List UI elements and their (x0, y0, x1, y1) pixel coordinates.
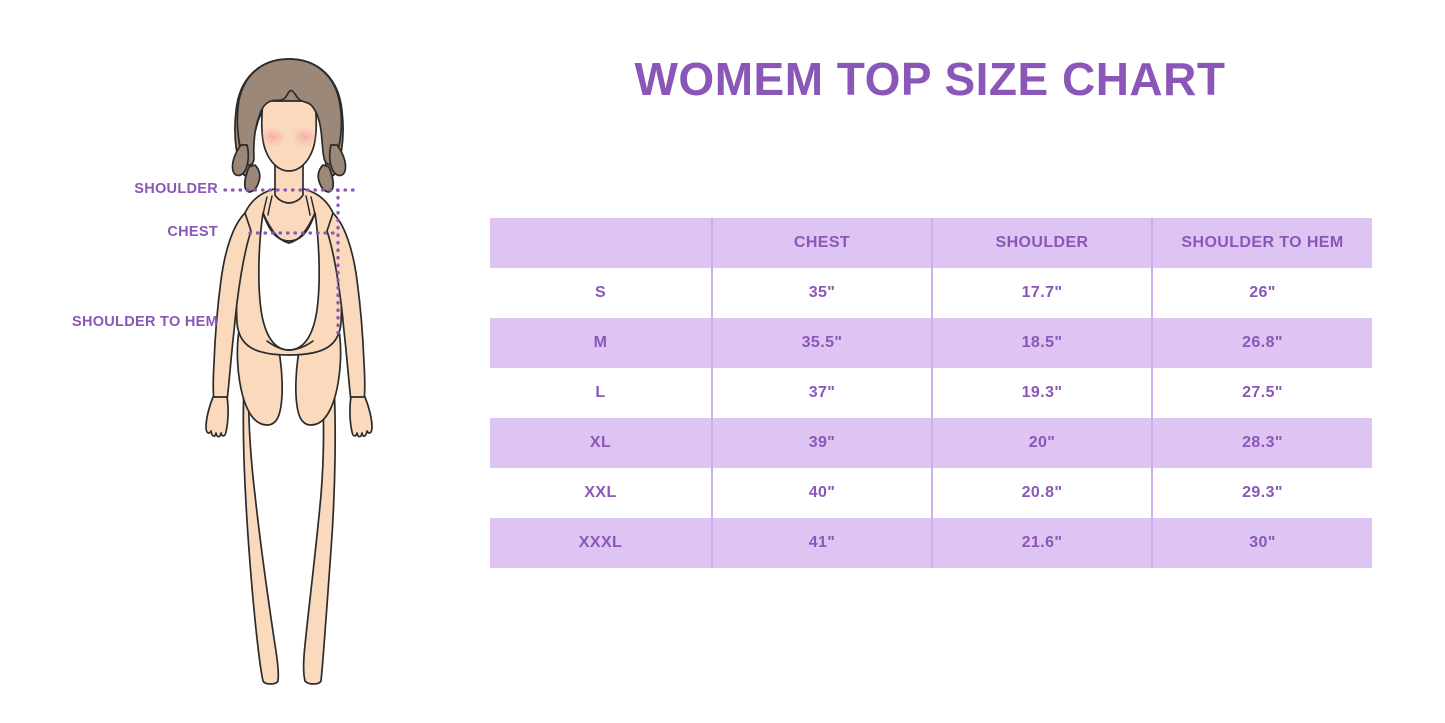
left-hand (206, 397, 228, 437)
cell-shoulder: 19.3" (932, 368, 1152, 418)
cell-chest: 35.5" (712, 318, 932, 368)
blush-right (292, 127, 318, 147)
size-chart-table: CHEST SHOULDER SHOULDER TO HEM S 35" 17.… (490, 218, 1372, 568)
cell-chest: 40" (712, 468, 932, 518)
column-header-shoulder: SHOULDER (932, 218, 1152, 268)
cell-size: XXXL (490, 518, 712, 568)
cell-shoulder-to-hem: 29.3" (1152, 468, 1372, 518)
cell-size: M (490, 318, 712, 368)
cell-size: XXL (490, 468, 712, 518)
table-row: S 35" 17.7" 26" (490, 268, 1372, 318)
cell-size: S (490, 268, 712, 318)
cell-shoulder-to-hem: 30" (1152, 518, 1372, 568)
label-shoulder-to-hem: SHOULDER TO HEM (0, 314, 218, 330)
table-row: XL 39" 20" 28.3" (490, 418, 1372, 468)
column-header-shoulder-to-hem: SHOULDER TO HEM (1152, 218, 1372, 268)
table-header: CHEST SHOULDER SHOULDER TO HEM (490, 218, 1372, 268)
hair-side-left (232, 145, 248, 176)
cell-shoulder: 20" (932, 418, 1152, 468)
table-row: XXXL 41" 21.6" 30" (490, 518, 1372, 568)
cell-shoulder-to-hem: 26" (1152, 268, 1372, 318)
table-row: L 37" 19.3" 27.5" (490, 368, 1372, 418)
body-figure-illustration (175, 45, 425, 695)
column-header-chest: CHEST (712, 218, 932, 268)
cell-shoulder-to-hem: 27.5" (1152, 368, 1372, 418)
table-body: S 35" 17.7" 26" M 35.5" 18.5" 26.8" L 37… (490, 268, 1372, 568)
label-shoulder: SHOULDER (0, 181, 218, 197)
figure-body (206, 59, 372, 684)
cell-chest: 37" (712, 368, 932, 418)
cell-size: XL (490, 418, 712, 468)
cell-shoulder: 18.5" (932, 318, 1152, 368)
right-hand (350, 397, 372, 437)
cell-chest: 41" (712, 518, 932, 568)
table-row: XXL 40" 20.8" 29.3" (490, 468, 1372, 518)
cell-chest: 35" (712, 268, 932, 318)
cell-shoulder-to-hem: 28.3" (1152, 418, 1372, 468)
table-header-row: CHEST SHOULDER SHOULDER TO HEM (490, 218, 1372, 268)
label-chest: CHEST (0, 224, 218, 240)
cell-chest: 39" (712, 418, 932, 468)
cell-shoulder-to-hem: 26.8" (1152, 318, 1372, 368)
page-title: WOMEM TOP SIZE CHART (470, 52, 1390, 106)
cell-shoulder: 21.6" (932, 518, 1152, 568)
cell-shoulder: 20.8" (932, 468, 1152, 518)
cell-size: L (490, 368, 712, 418)
hair-side-right (330, 145, 346, 176)
table-row: M 35.5" 18.5" 26.8" (490, 318, 1372, 368)
column-header-size (490, 218, 712, 268)
blush-left (260, 127, 286, 147)
cell-shoulder: 17.7" (932, 268, 1152, 318)
